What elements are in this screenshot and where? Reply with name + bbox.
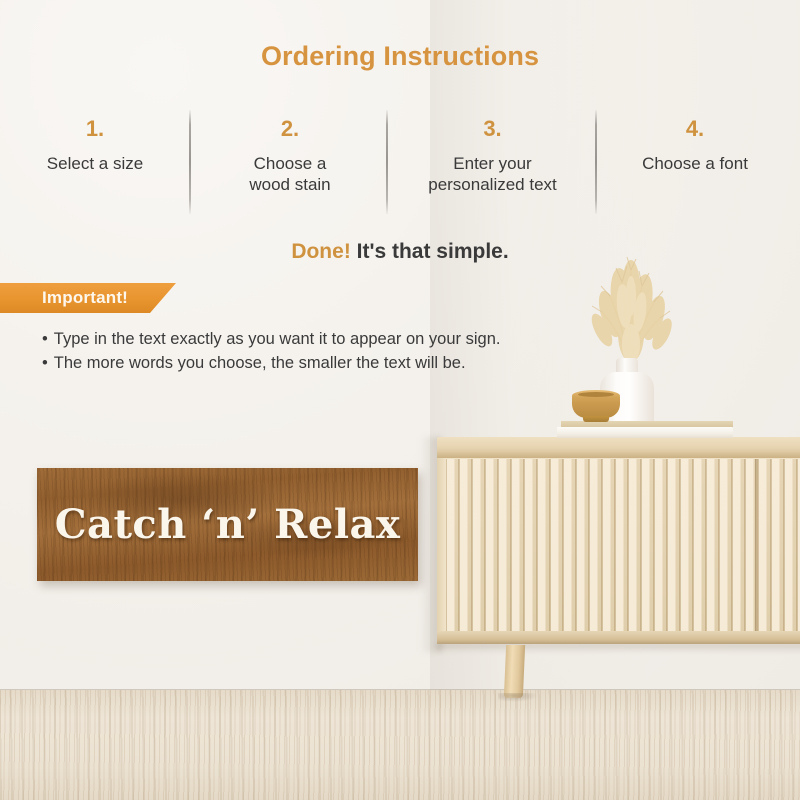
bullet-marker: • bbox=[42, 354, 48, 372]
fluted-sideboard bbox=[437, 437, 800, 652]
decor-book bbox=[557, 421, 733, 438]
sideboard-top-edge bbox=[437, 452, 800, 458]
sign-personalized-text: Catch ‘n’ Relax bbox=[37, 468, 418, 581]
sideboard-leg-shadow bbox=[498, 693, 538, 702]
step-divider-3 bbox=[595, 110, 597, 214]
sideboard-fluted-panel bbox=[445, 459, 800, 631]
step-3: 3. Enter yourpersonalized text bbox=[395, 118, 590, 195]
book-pages bbox=[557, 427, 733, 438]
step-divider-1 bbox=[189, 110, 191, 214]
important-bullet-list: •Type in the text exactly as you want it… bbox=[42, 328, 662, 376]
bowl-foot bbox=[583, 416, 609, 422]
step-4-number: 4. bbox=[600, 118, 790, 140]
sideboard-leg bbox=[504, 645, 525, 698]
important-banner: Important! bbox=[0, 283, 176, 313]
step-4: 4. Choose a font bbox=[600, 118, 790, 175]
step-2-label: Choose awood stain bbox=[195, 154, 385, 195]
bullet-text: Type in the text exactly as you want it … bbox=[54, 330, 501, 348]
steps-row: 1. Select a size 2. Choose awood stain 3… bbox=[0, 118, 800, 218]
sideboard-left-frame bbox=[437, 454, 446, 638]
step-3-label: Enter yourpersonalized text bbox=[395, 154, 590, 195]
step-1: 1. Select a size bbox=[0, 118, 190, 175]
step-1-label: Select a size bbox=[0, 154, 190, 175]
wood-floor bbox=[0, 690, 800, 800]
bowl-interior bbox=[578, 392, 614, 397]
bullet-marker: • bbox=[42, 330, 48, 348]
bullet-item: •Type in the text exactly as you want it… bbox=[42, 328, 662, 352]
step-4-label: Choose a font bbox=[600, 154, 790, 175]
product-instruction-graphic: Catch ‘n’ Relax Ordering Instructions 1.… bbox=[0, 0, 800, 800]
step-2: 2. Choose awood stain bbox=[195, 118, 385, 195]
page-title: Ordering Instructions bbox=[0, 41, 800, 72]
done-tagline: Done! It's that simple. bbox=[0, 240, 800, 264]
wooden-sign-product: Catch ‘n’ Relax bbox=[37, 468, 418, 581]
step-3-number: 3. bbox=[395, 118, 590, 140]
important-banner-label: Important! bbox=[42, 288, 128, 308]
done-highlight: Done! bbox=[291, 240, 351, 263]
step-1-number: 1. bbox=[0, 118, 190, 140]
sideboard-door-seam bbox=[755, 459, 758, 631]
step-divider-2 bbox=[386, 110, 388, 214]
step-2-number: 2. bbox=[195, 118, 385, 140]
sideboard-underside-shadow bbox=[437, 643, 800, 653]
done-rest: It's that simple. bbox=[351, 240, 509, 263]
bullet-item: •The more words you choose, the smaller … bbox=[42, 352, 662, 376]
gold-bowl bbox=[572, 390, 620, 423]
bullet-text: The more words you choose, the smaller t… bbox=[54, 354, 466, 372]
